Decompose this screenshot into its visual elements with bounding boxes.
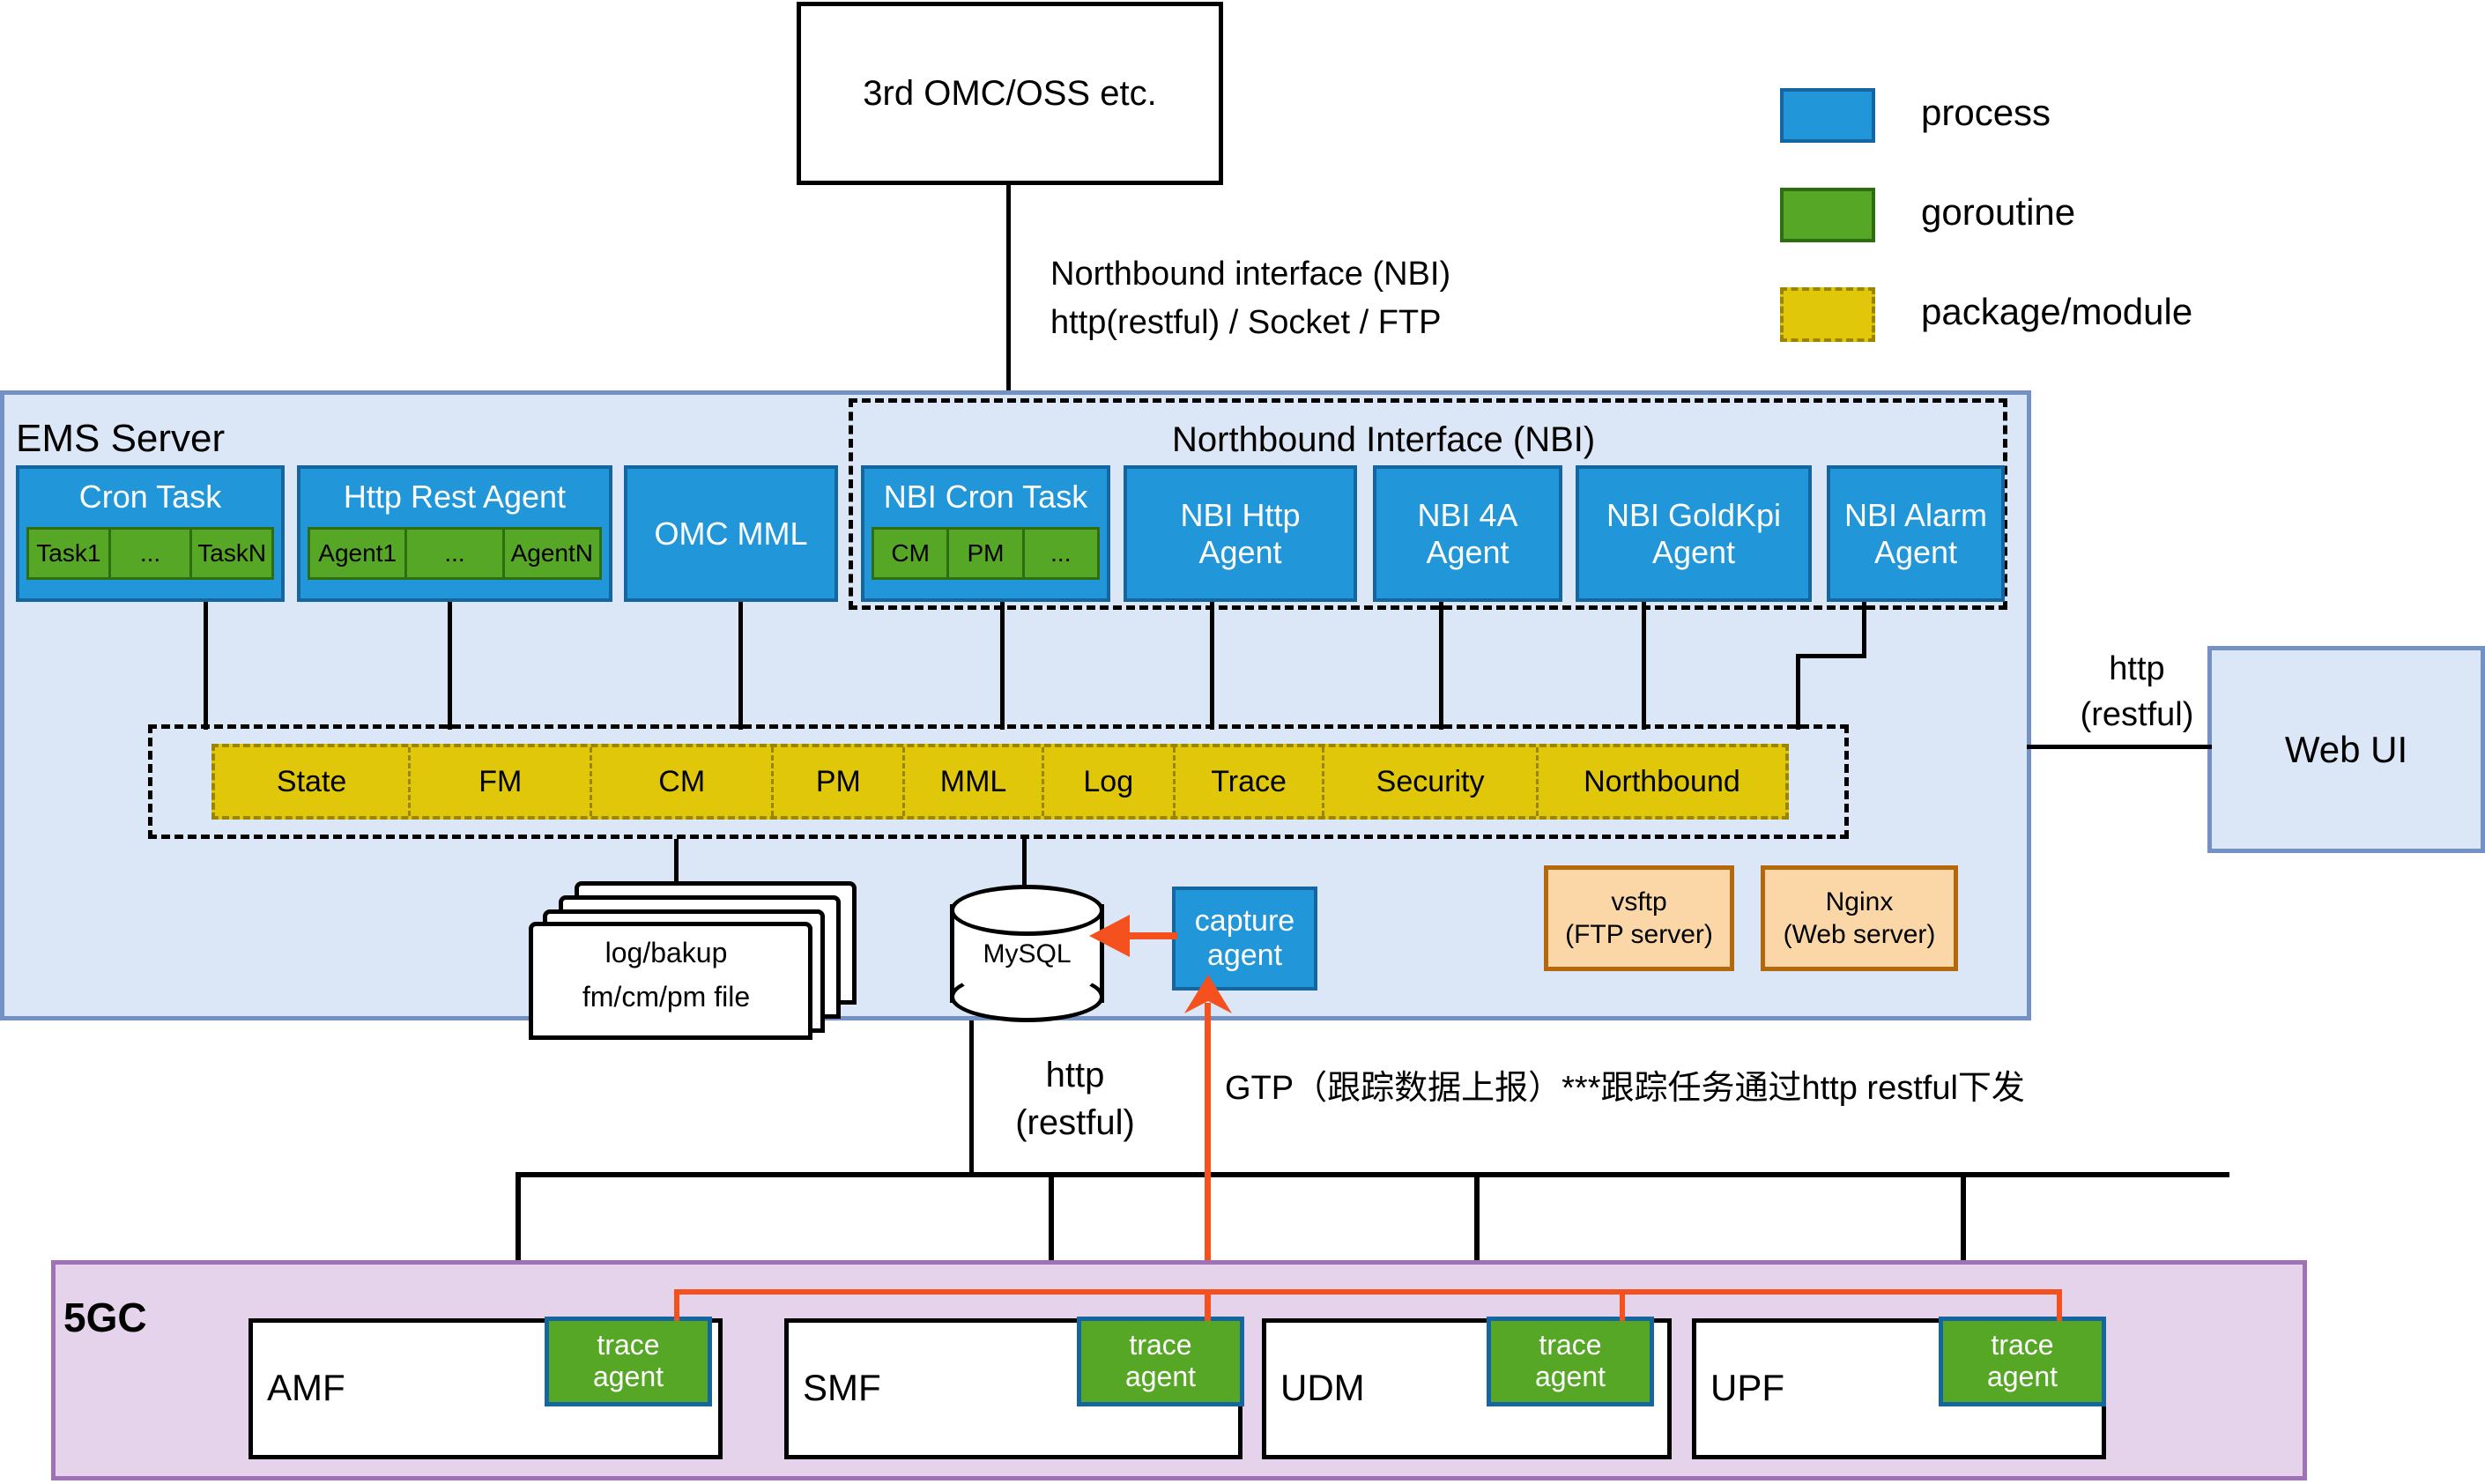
trace-agent-udm-label-line2: agent bbox=[1535, 1362, 1606, 1393]
connector-nbi-alarm-agent-vertical-lower bbox=[1796, 654, 1800, 730]
architecture-diagram: 3rd OMC/OSS etc. Northbound interface (N… bbox=[0, 0, 2485, 1484]
process-nbi-http-agent-label: NBI Http Agent bbox=[1127, 497, 1354, 570]
process-nbi-alarm-agent-label: NBI Alarm Agent bbox=[1830, 497, 2001, 570]
module-label: PM bbox=[816, 765, 861, 799]
server-vsftp-label-line1: vsftp bbox=[1611, 886, 1666, 919]
connector-ems-to-5gc-trunk-vertical bbox=[969, 1020, 974, 1175]
module-pm[interactable]: PM bbox=[774, 747, 905, 816]
module-label: Northbound bbox=[1584, 765, 1740, 799]
server-nginx-label-line2: (Web server) bbox=[1784, 918, 1936, 952]
goroutine-item[interactable]: ... bbox=[407, 527, 504, 580]
process-nbi-goldkpi-agent[interactable]: NBI GoldKpi Agent bbox=[1576, 465, 1812, 602]
third-party-omc-oss-box[interactable]: 3rd OMC/OSS etc. bbox=[797, 2, 1223, 185]
connector-nbi-goldkpi-agent-to-modules bbox=[1642, 602, 1646, 730]
module-northbound[interactable]: Northbound bbox=[1539, 747, 1785, 816]
process-cron-task-label: Cron Task bbox=[19, 474, 281, 520]
goroutine-group-http-rest-agent: Agent1 ... AgentN bbox=[308, 527, 602, 580]
connector-omc-mml-to-modules bbox=[738, 602, 743, 730]
process-http-rest-agent-label: Http Rest Agent bbox=[300, 474, 609, 520]
database-cylinder-top bbox=[950, 885, 1104, 936]
trace-agent-smf[interactable]: trace agent bbox=[1077, 1317, 1244, 1406]
trace-agent-udm-label-line1: trace bbox=[1539, 1330, 1601, 1362]
process-nbi-4a-agent-label: NBI 4A Agent bbox=[1376, 497, 1559, 570]
module-log[interactable]: Log bbox=[1044, 747, 1176, 816]
process-nbi-4a-agent[interactable]: NBI 4A Agent bbox=[1373, 465, 1562, 602]
gtp-trunk-arrowhead bbox=[1184, 975, 1232, 1013]
file-store-label-line2: fm/cm/pm file bbox=[533, 981, 799, 1013]
legend-swatch-process bbox=[1780, 88, 1875, 143]
http-restful-label-line2: (restful) bbox=[974, 1103, 1176, 1143]
nbi-connector-line bbox=[1006, 185, 1011, 401]
nf-udm-label: UDM bbox=[1280, 1367, 1365, 1409]
trace-agent-smf-label-line2: agent bbox=[1125, 1362, 1196, 1393]
trace-wiring-drop-upf bbox=[2057, 1289, 2062, 1321]
goroutine-item[interactable]: TaskN bbox=[192, 527, 274, 580]
trace-wiring-drop-smf bbox=[1205, 1289, 1211, 1321]
connector-cron-task-to-modules bbox=[204, 602, 208, 730]
file-store-label-line1: log/bakup bbox=[533, 937, 799, 969]
third-party-omc-oss-label: 3rd OMC/OSS etc. bbox=[863, 74, 1156, 114]
process-nbi-http-agent[interactable]: NBI Http Agent bbox=[1124, 465, 1357, 602]
process-omc-mml[interactable]: OMC MML bbox=[624, 465, 838, 602]
trace-agent-amf[interactable]: trace agent bbox=[545, 1317, 712, 1406]
goroutine-item[interactable]: CM bbox=[872, 527, 949, 580]
connector-nbi-alarm-agent-vertical-upper bbox=[1862, 602, 1866, 657]
connector-nbi-http-agent-to-modules bbox=[1210, 602, 1214, 730]
module-state[interactable]: State bbox=[215, 747, 411, 816]
gtp-note-label: GTP（跟踪数据上报）***跟踪任务通过http restful下发 bbox=[1225, 1060, 2025, 1109]
legend-row-module: package/module bbox=[1780, 287, 2309, 342]
trace-agent-upf-label-line2: agent bbox=[1987, 1362, 2058, 1393]
web-ui-box[interactable]: Web UI bbox=[2207, 646, 2485, 853]
database-cylinder-bottom bbox=[950, 971, 1104, 1022]
ems-server-title: EMS Server bbox=[16, 417, 225, 461]
process-cron-task[interactable]: Cron Task Task1 ... TaskN bbox=[16, 465, 285, 602]
server-nginx-label-line1: Nginx bbox=[1826, 886, 1894, 919]
server-nginx[interactable]: Nginx (Web server) bbox=[1761, 865, 1958, 971]
legend-label-goroutine: goroutine bbox=[1921, 191, 2075, 234]
http-restful-label-line1: http bbox=[987, 1056, 1163, 1095]
process-nbi-cron-task-label: NBI Cron Task bbox=[864, 474, 1107, 520]
server-vsftp[interactable]: vsftp (FTP server) bbox=[1544, 865, 1734, 971]
web-ui-label: Web UI bbox=[2285, 729, 2407, 771]
trace-agent-amf-label-line2: agent bbox=[593, 1362, 664, 1393]
legend-label-process: process bbox=[1921, 92, 2051, 134]
goroutine-item[interactable]: AgentN bbox=[505, 527, 602, 580]
module-label: MML bbox=[940, 765, 1007, 799]
module-security[interactable]: Security bbox=[1324, 747, 1539, 816]
legend-label-module: package/module bbox=[1921, 291, 2192, 333]
module-label: CM bbox=[658, 765, 705, 799]
nbi-link-label-line2: http(restful) / Socket / FTP bbox=[1050, 304, 1441, 342]
module-label: Trace bbox=[1211, 765, 1287, 799]
nbi-link-label-line1: Northbound interface (NBI) bbox=[1050, 256, 1450, 293]
goroutine-item[interactable]: ... bbox=[111, 527, 193, 580]
capture-agent-label-line2: agent bbox=[1207, 939, 1282, 973]
connector-5gc-bus-horizontal bbox=[516, 1172, 2229, 1177]
legend-row-process: process bbox=[1780, 88, 2309, 143]
connector-nbi-alarm-agent-horizontal bbox=[1796, 654, 1866, 658]
module-trace[interactable]: Trace bbox=[1176, 747, 1324, 816]
module-label: Log bbox=[1083, 765, 1133, 799]
process-http-rest-agent[interactable]: Http Rest Agent Agent1 ... AgentN bbox=[297, 465, 612, 602]
module-label: State bbox=[277, 765, 346, 799]
trace-wiring-drop-udm bbox=[1620, 1289, 1625, 1321]
nf-smf-label: SMF bbox=[803, 1367, 881, 1409]
legend: process goroutine package/module bbox=[1780, 88, 2309, 326]
web-ui-link-label-line1: http bbox=[2075, 650, 2199, 688]
module-bar: State FM CM PM MML Log Trace Security No… bbox=[211, 744, 1789, 820]
module-mml[interactable]: MML bbox=[905, 747, 1043, 816]
core-5gc-title: 5GC bbox=[63, 1294, 147, 1341]
module-label: Security bbox=[1376, 765, 1485, 799]
database-mysql[interactable]: MySQL bbox=[950, 885, 1104, 1026]
capture-agent-label-line1: capture bbox=[1195, 904, 1294, 939]
legend-row-goroutine: goroutine bbox=[1780, 188, 2309, 242]
trace-agent-smf-label-line1: trace bbox=[1129, 1330, 1191, 1362]
nf-upf-label: UPF bbox=[1710, 1367, 1784, 1409]
goroutine-group-nbi-cron-task: CM PM ... bbox=[872, 527, 1100, 580]
file-store-sheet-front[interactable]: log/bakup fm/cm/pm file bbox=[529, 922, 812, 1040]
trace-agent-upf-label-line1: trace bbox=[1991, 1330, 2053, 1362]
nbi-group-title: Northbound Interface (NBI) bbox=[1172, 420, 1595, 460]
process-nbi-goldkpi-agent-label: NBI GoldKpi Agent bbox=[1579, 497, 1808, 570]
connector-http-rest-agent-to-modules bbox=[448, 602, 452, 730]
trace-wiring-bus bbox=[674, 1289, 2062, 1295]
module-fm[interactable]: FM bbox=[411, 747, 592, 816]
server-vsftp-label-line2: (FTP server) bbox=[1565, 918, 1713, 952]
process-omc-mml-label: OMC MML bbox=[655, 516, 808, 553]
goroutine-item[interactable]: Agent1 bbox=[308, 527, 407, 580]
legend-swatch-module bbox=[1780, 287, 1875, 342]
trace-agent-amf-label-line1: trace bbox=[597, 1330, 659, 1362]
connector-nbi-cron-task-to-modules bbox=[1000, 602, 1005, 730]
goroutine-item[interactable]: Task1 bbox=[26, 527, 111, 580]
connector-modules-to-database bbox=[1022, 839, 1027, 885]
module-cm[interactable]: CM bbox=[592, 747, 774, 816]
nf-amf-label: AMF bbox=[267, 1367, 345, 1409]
goroutine-group-cron-task: Task1 ... TaskN bbox=[26, 527, 274, 580]
trace-wiring-drop-amf bbox=[674, 1289, 679, 1321]
trace-agent-udm[interactable]: trace agent bbox=[1487, 1317, 1654, 1406]
goroutine-item[interactable]: PM bbox=[949, 527, 1024, 580]
connector-nbi-4a-agent-to-modules bbox=[1439, 602, 1443, 730]
process-nbi-alarm-agent[interactable]: NBI Alarm Agent bbox=[1827, 465, 2005, 602]
connector-ems-to-web-ui bbox=[2027, 745, 2212, 749]
goroutine-item[interactable]: ... bbox=[1025, 527, 1100, 580]
capture-to-database-arrowhead bbox=[1089, 915, 1130, 957]
module-label: FM bbox=[478, 765, 522, 799]
trace-agent-upf[interactable]: trace agent bbox=[1939, 1317, 2106, 1406]
web-ui-link-label-line2: (restful) bbox=[2053, 696, 2221, 734]
database-label: MySQL bbox=[950, 939, 1104, 969]
process-nbi-cron-task[interactable]: NBI Cron Task CM PM ... bbox=[861, 465, 1110, 602]
legend-swatch-goroutine bbox=[1780, 188, 1875, 242]
